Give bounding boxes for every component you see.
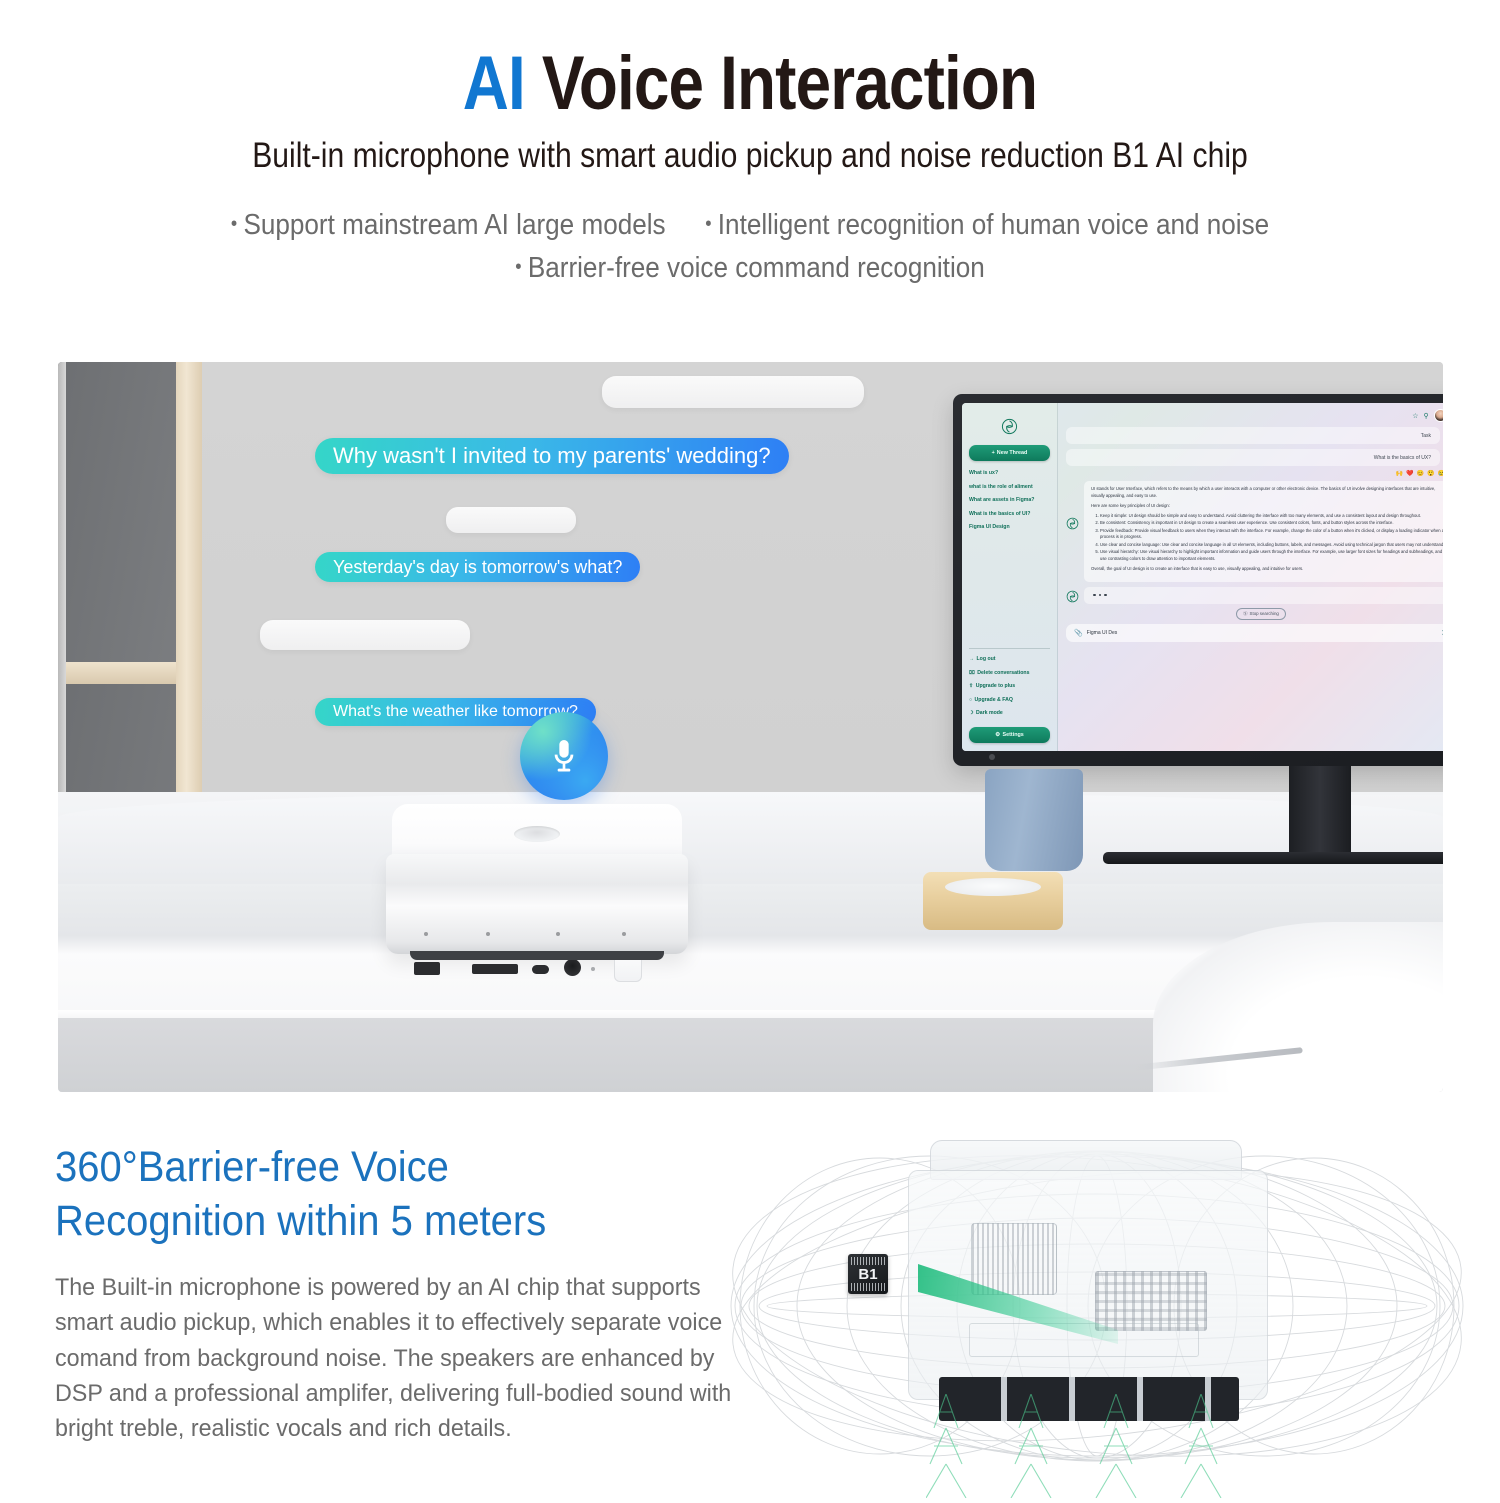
paperclip-icon[interactable]: 📎	[1074, 629, 1083, 637]
page-subtitle: Built-in microphone with smart audio pic…	[105, 136, 1395, 176]
cooling-fan	[971, 1223, 1057, 1295]
app-main: ☆ ⚲ W Task What is the basics of UX?	[1058, 403, 1443, 751]
bullet-item: •Intelligent recognition of human voice …	[705, 204, 1269, 247]
page-title: AI Voice Interaction	[120, 46, 1380, 122]
feature-bullets: •Support mainstream AI large models •Int…	[0, 204, 1500, 290]
answer-list-item: Provide feedback: Provide visual feedbac…	[1100, 528, 1443, 541]
title-rest: Voice Interaction	[525, 41, 1037, 126]
sidebar-item-thread[interactable]: What are assets in Figma?	[969, 497, 1050, 503]
assistant-answer-row: UI stands for User Interface, which refe…	[1066, 481, 1443, 582]
bullet-dot-icon: •	[705, 214, 711, 234]
bullet-label: Intelligent recognition of human voice a…	[718, 204, 1269, 247]
message-composer[interactable]: 📎 Figma UI Des ➤	[1066, 624, 1443, 642]
monitor-stand-neck	[1289, 766, 1351, 858]
desk-cloth	[1153, 922, 1443, 1092]
bullet-item: •Barrier-free voice command recognition	[515, 247, 985, 290]
typing-dot	[1104, 594, 1107, 597]
sd-card-slot	[472, 964, 518, 974]
thread-list: What is ux? what is the role of aliment …	[969, 470, 1050, 530]
menu-label: Upgrade & FAQ	[975, 697, 1013, 703]
reply-bubble-blank	[260, 620, 470, 650]
composer-input[interactable]: Figma UI Des	[1087, 630, 1438, 636]
sidebar-item-dark-mode[interactable]: ☽Dark mode	[969, 710, 1050, 716]
sidebar-item-thread[interactable]: What is the basics of UI?	[969, 511, 1050, 517]
sidebar-item-upgrade-faq[interactable]: ○Upgrade & FAQ	[969, 697, 1050, 703]
reaction-emoji[interactable]: 😢	[1438, 470, 1443, 477]
b1-chip-label: B1	[858, 1266, 877, 1283]
user-message: Task	[1066, 427, 1440, 444]
trash-icon: ⌧	[969, 670, 975, 676]
menu-label: Dark mode	[976, 710, 1003, 716]
menu-label: Delete conversations	[977, 670, 1029, 676]
xray-device-360-coverage: B1	[712, 1126, 1482, 1498]
reply-bubble-blank	[446, 507, 576, 533]
bullet-label: Barrier-free voice command recognition	[528, 247, 985, 290]
menu-label: Log out	[977, 656, 996, 662]
bullet-row-2: •Barrier-free voice command recognition	[75, 247, 1425, 290]
usb-c-port	[532, 965, 549, 974]
sidebar-item-thread[interactable]: What is ux?	[969, 470, 1050, 476]
star-icon[interactable]: ☆	[1412, 412, 1418, 420]
send-icon[interactable]: ➤	[1441, 628, 1443, 637]
new-thread-button[interactable]: + New Thread	[969, 445, 1050, 461]
screw	[424, 932, 428, 936]
openai-logo-icon	[1066, 517, 1079, 530]
headphone-jack	[564, 959, 581, 976]
plus-icon: +	[992, 450, 995, 456]
monitor-bezel: + New Thread What is ux? what is the rol…	[953, 394, 1443, 766]
answer-list: Keep it simple: UI design should be simp…	[1100, 513, 1443, 563]
openai-logo-icon	[1001, 418, 1018, 435]
sidebar-item-thread[interactable]: what is the role of aliment	[969, 484, 1050, 490]
shelf-panel-upper	[58, 362, 178, 662]
device-top-shell	[392, 804, 682, 860]
sidebar-item-delete-conversations[interactable]: ⌧Delete conversations	[969, 670, 1050, 676]
message-row: Task	[1066, 427, 1443, 444]
screw	[556, 932, 560, 936]
typing-row	[1066, 587, 1443, 604]
screw	[486, 932, 490, 936]
answer-list-item: Use visual hierarchy: Use visual hierarc…	[1100, 549, 1443, 562]
answer-paragraph: UI stands for User Interface, which refe…	[1091, 486, 1443, 499]
b1-chip-badge: B1	[848, 1254, 888, 1294]
sidebar-item-upgrade-to-plus[interactable]: ⇧Upgrade to plus	[969, 683, 1050, 689]
voice-bubble: Why wasn't I invited to my parents' wedd…	[315, 438, 789, 474]
reply-bubble-blank	[602, 376, 864, 408]
section-body-text: The Built-in microphone is powered by an…	[55, 1270, 739, 1446]
typing-dot	[1099, 594, 1102, 597]
device-base	[410, 951, 664, 960]
bullet-dot-icon: •	[231, 214, 237, 234]
assistant-answer: UI stands for User Interface, which refe…	[1084, 481, 1443, 582]
bullet-dot-icon: •	[515, 257, 521, 277]
search-icon[interactable]: ⚲	[1424, 412, 1429, 420]
title-highlight: AI	[463, 41, 525, 126]
answer-list-item: Use clear and concise language: Use clea…	[1100, 542, 1443, 549]
app-sidebar: + New Thread What is ux? what is the rol…	[962, 403, 1058, 751]
typing-dot	[1093, 594, 1096, 597]
stop-searching-button[interactable]: Ⓢ Stop searching	[1236, 608, 1286, 620]
answer-closing: Overall, the goal of UI design is to cre…	[1091, 566, 1443, 573]
webcam-icon	[989, 754, 995, 760]
stop-circle-icon: Ⓢ	[1243, 611, 1247, 617]
moon-icon: ☽	[969, 710, 973, 716]
blue-cup	[985, 769, 1083, 871]
bullet-label: Support mainstream AI large models	[243, 204, 665, 247]
settings-label: Settings	[1003, 732, 1024, 738]
wooden-tray	[923, 872, 1063, 930]
pcb-chip-array	[1095, 1271, 1207, 1331]
bottom-section: 360°Barrier-free Voice Recognition withi…	[0, 1118, 1500, 1500]
answer-list-item: Be consistent: Consistency is important …	[1100, 520, 1443, 527]
openai-logo-icon	[1066, 590, 1079, 603]
menu-label: Upgrade to plus	[976, 683, 1015, 689]
sidebar-divider	[969, 648, 1050, 649]
avatar[interactable]	[1434, 409, 1443, 422]
status-led	[591, 967, 595, 971]
reaction-bar: 🙌 ❤️ 😊 😲 😢 ⋮	[1066, 470, 1443, 477]
monitor-stand-base	[1103, 852, 1443, 864]
section-heading: 360°Barrier-free Voice Recognition withi…	[55, 1140, 546, 1248]
stop-label: Stop searching	[1250, 611, 1279, 616]
faq-icon: ○	[969, 697, 972, 703]
mini-pc-device	[386, 804, 688, 964]
app-topbar: ☆ ⚲ W	[1066, 409, 1443, 422]
reaction-emoji[interactable]: 🙌	[1396, 470, 1403, 477]
reaction-emoji[interactable]: 😲	[1427, 470, 1434, 477]
monitor: + New Thread What is ux? what is the rol…	[953, 394, 1443, 864]
bullet-item: •Support mainstream AI large models	[231, 204, 666, 247]
logout-icon: →	[969, 656, 974, 662]
page-header: AI Voice Interaction Built-in microphone…	[0, 0, 1500, 290]
sidebar-spacer	[969, 530, 1050, 642]
message-row: What is the basics of UX?	[1066, 449, 1443, 466]
user-message: What is the basics of UX?	[1066, 449, 1440, 466]
screw	[622, 932, 626, 936]
upgrade-icon: ⇧	[969, 683, 973, 689]
bullet-row-1: •Support mainstream AI large models •Int…	[75, 204, 1425, 247]
typing-indicator	[1084, 587, 1443, 604]
brand-logo-icon	[514, 826, 560, 842]
stop-row: Ⓢ Stop searching	[1066, 608, 1443, 620]
microphone-icon	[520, 712, 608, 800]
sidebar-menu: →Log out ⌧Delete conversations ⇧Upgrade …	[969, 656, 1050, 716]
reaction-emoji[interactable]: 😊	[1417, 470, 1424, 477]
usb-a-port	[414, 962, 440, 975]
settings-button[interactable]: ⚙ Settings	[969, 727, 1050, 743]
shelf-board	[58, 662, 182, 684]
monitor-screen: + New Thread What is ux? what is the rol…	[962, 403, 1443, 751]
hero-product-photo: Why wasn't I invited to my parents' wedd…	[58, 362, 1443, 1092]
answer-paragraph: Here are some key principles of UI desig…	[1091, 503, 1443, 510]
answer-list-item: Keep it simple: UI design should be simp…	[1100, 513, 1443, 520]
sidebar-item-logout[interactable]: →Log out	[969, 656, 1050, 662]
voice-bubble: Yesterday's day is tomorrow's what?	[315, 552, 640, 582]
speaker-waves	[926, 1394, 1256, 1498]
new-thread-label: New Thread	[997, 450, 1028, 456]
chat-app: + New Thread What is ux? what is the rol…	[962, 403, 1443, 751]
gear-icon: ⚙	[995, 732, 1000, 738]
device-front-panel	[386, 854, 688, 954]
reaction-emoji[interactable]: ❤️	[1406, 470, 1413, 477]
